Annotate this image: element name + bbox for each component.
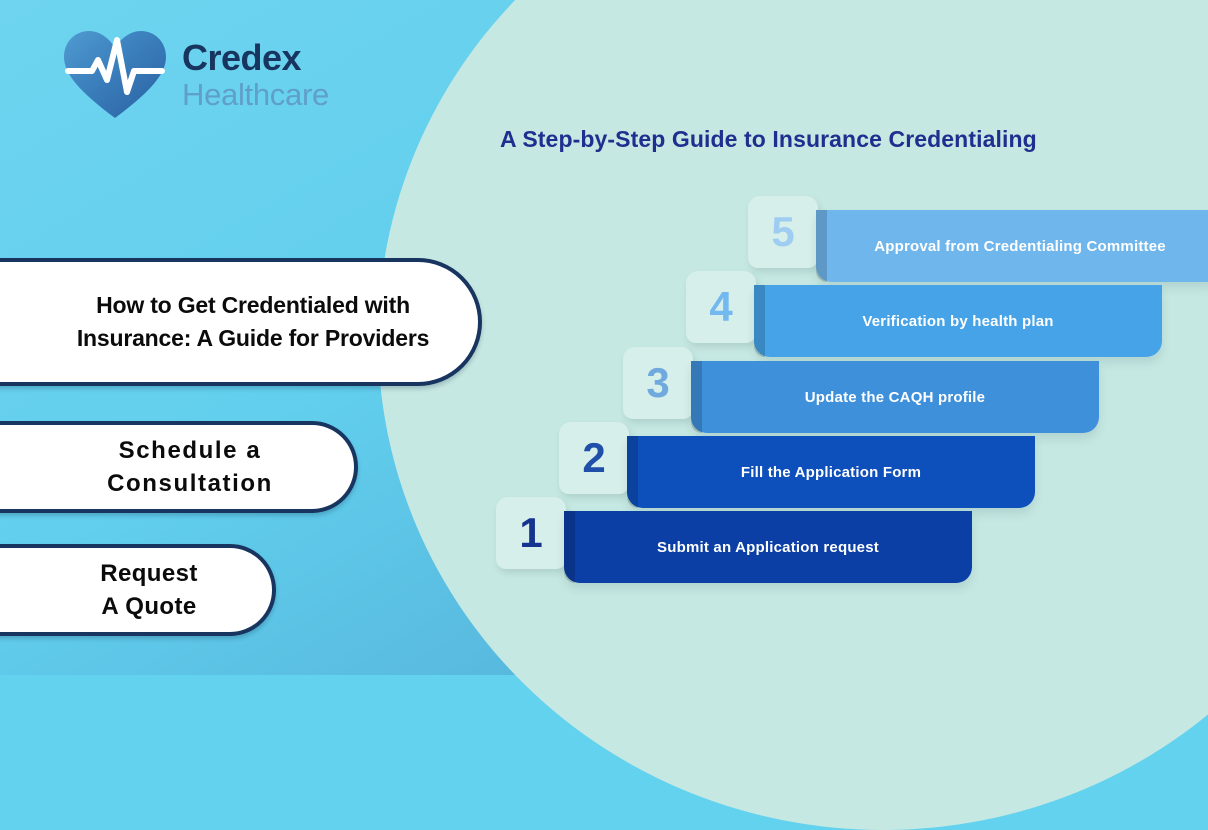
step-bar-3[interactable]: Update the CAQH profile	[691, 361, 1099, 433]
step-bar-4[interactable]: Verification by health plan	[754, 285, 1162, 357]
step-number-badge-2: 2	[559, 422, 629, 494]
step-label-4: Verification by health plan	[862, 313, 1053, 330]
steps-staircase-diagram: 5 Approval from Credentialing Committee …	[0, 0, 1208, 675]
step-number-badge-3: 3	[623, 347, 693, 419]
step-number-5: 5	[771, 208, 794, 256]
step-bar-2[interactable]: Fill the Application Form	[627, 436, 1035, 508]
step-label-3: Update the CAQH profile	[805, 389, 985, 406]
step-bar-5[interactable]: Approval from Credentialing Committee	[816, 210, 1208, 282]
step-label-5: Approval from Credentialing Committee	[874, 238, 1166, 255]
step-number-4: 4	[709, 283, 732, 331]
step-number-badge-5: 5	[748, 196, 818, 268]
step-number-badge-4: 4	[686, 271, 756, 343]
step-label-1: Submit an Application request	[657, 539, 879, 556]
step-label-2: Fill the Application Form	[741, 464, 921, 481]
step-number-3: 3	[646, 359, 669, 407]
step-number-1: 1	[519, 509, 542, 557]
step-number-2: 2	[582, 434, 605, 482]
step-number-badge-1: 1	[496, 497, 566, 569]
step-bar-1[interactable]: Submit an Application request	[564, 511, 972, 583]
